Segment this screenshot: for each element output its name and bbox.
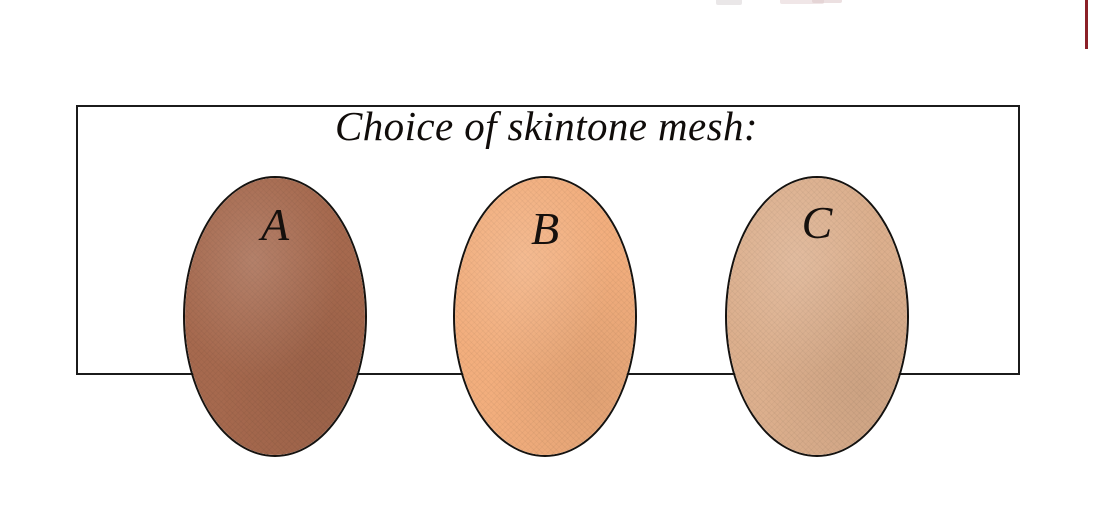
page-title: Choice of skintone mesh: [0,106,1093,147]
skintone-swatch-a[interactable]: A [183,176,367,457]
scan-artifact [716,0,742,5]
skintone-swatch-c[interactable]: C [725,176,909,457]
swatch-label-a: A [185,202,365,248]
swatch-label-b: B [455,206,635,252]
scanned-page: Choice of skintone mesh: A B C [0,0,1093,531]
scan-artifact [812,0,842,3]
swatch-label-c: C [727,200,907,246]
skintone-swatch-b[interactable]: B [453,176,637,457]
margin-rule [1085,0,1088,49]
